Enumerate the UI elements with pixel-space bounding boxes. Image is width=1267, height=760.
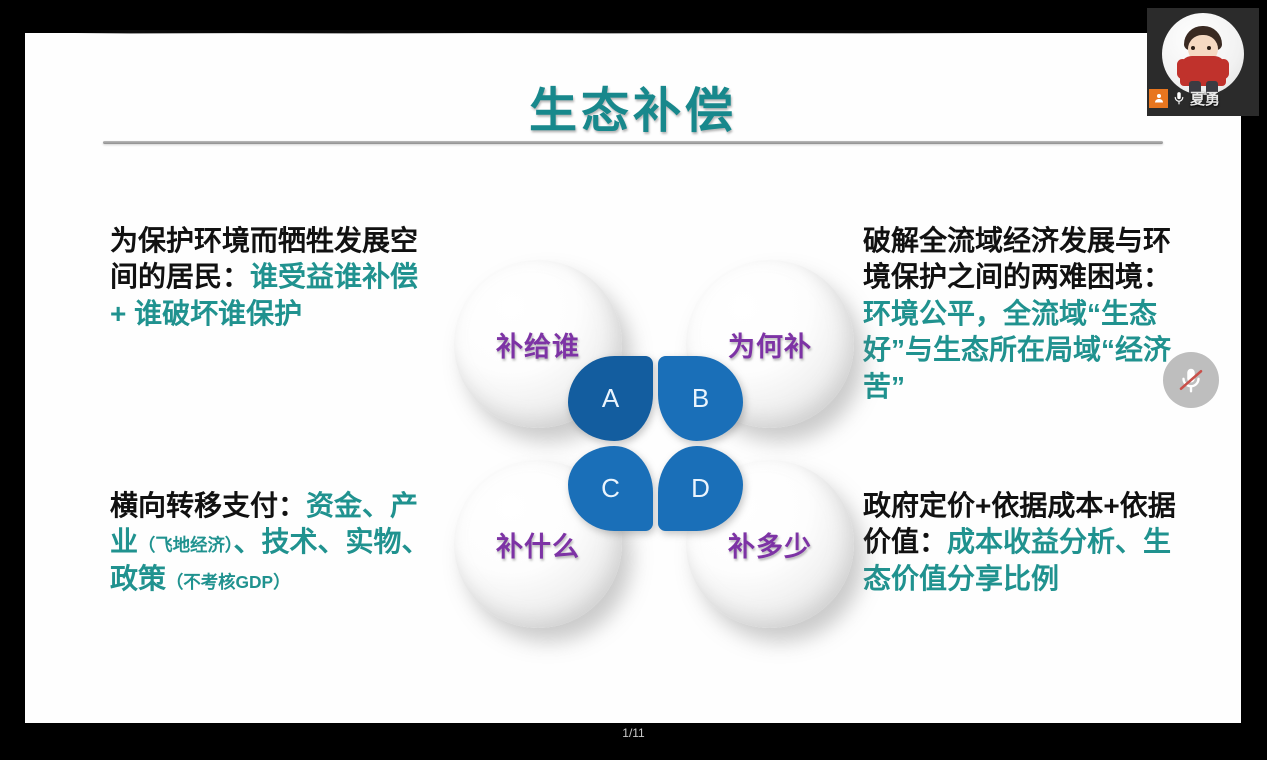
diagram-sphere-b-label: 为何补	[728, 325, 812, 364]
diagram-sphere-d-label: 补多少	[728, 525, 812, 564]
four-quadrant-diagram: 补给谁 为何补 补什么 补多少 A B C D	[440, 238, 860, 678]
diagram-petal-d-letter: D	[691, 473, 710, 504]
screen-share-viewer: 生态补偿 为保护环境而牺牲发展空间的居民：谁受益谁补偿 + 谁破坏谁保护 破解全…	[0, 0, 1267, 760]
diagram-sphere-a-label: 补给谁	[496, 325, 580, 364]
participant-name: 夏勇	[1190, 88, 1220, 109]
text-block-top-left: 为保护环境而牺牲发展空间的居民：谁受益谁补偿 + 谁破坏谁保护	[110, 223, 430, 332]
diagram-petal-c-letter: C	[601, 473, 620, 504]
diagram-petal-b-letter: B	[692, 383, 709, 414]
participant-status-bar: 夏勇	[1147, 88, 1220, 108]
clipped-text-sliver	[75, 30, 995, 34]
page-title: 生态补偿	[25, 71, 1241, 141]
participant-video-tile[interactable]: 夏勇	[1147, 8, 1259, 116]
bottom-left-note-2: （不考核GDP）	[166, 572, 290, 592]
text-block-top-right: 破解全流域经济发展与环境保护之间的两难困境：环境公平，全流域“生态好”与生态所在…	[863, 223, 1183, 405]
bottom-left-note-1: （飞地经济）	[138, 535, 233, 555]
microphone-icon	[1172, 90, 1186, 106]
page-indicator: 1/11	[0, 722, 1267, 744]
text-block-bottom-right: 政府定价+依据成本+依据价值：成本收益分析、生态价值分享比例	[863, 488, 1188, 597]
diagram-petal-a-letter: A	[602, 383, 619, 414]
top-right-lead: 破解全流域经济发展与环境保护之间的两难困境：	[863, 225, 1171, 292]
participant-icon	[1149, 89, 1168, 108]
microphone-muted-icon[interactable]	[1163, 352, 1219, 408]
avatar	[1162, 13, 1244, 95]
bottom-left-lead: 横向转移支付：	[110, 490, 306, 521]
presentation-slide: 生态补偿 为保护环境而牺牲发展空间的居民：谁受益谁补偿 + 谁破坏谁保护 破解全…	[25, 33, 1241, 723]
top-right-highlight: 环境公平，全流域“生态好”与生态所在局域“经济苦”	[863, 298, 1171, 402]
title-divider	[103, 141, 1163, 144]
diagram-sphere-c-label: 补什么	[496, 525, 580, 564]
diagram-petal-a: A	[568, 356, 653, 441]
text-block-bottom-left: 横向转移支付：资金、产业（飞地经济）、技术、实物、政策（不考核GDP）	[110, 488, 440, 597]
